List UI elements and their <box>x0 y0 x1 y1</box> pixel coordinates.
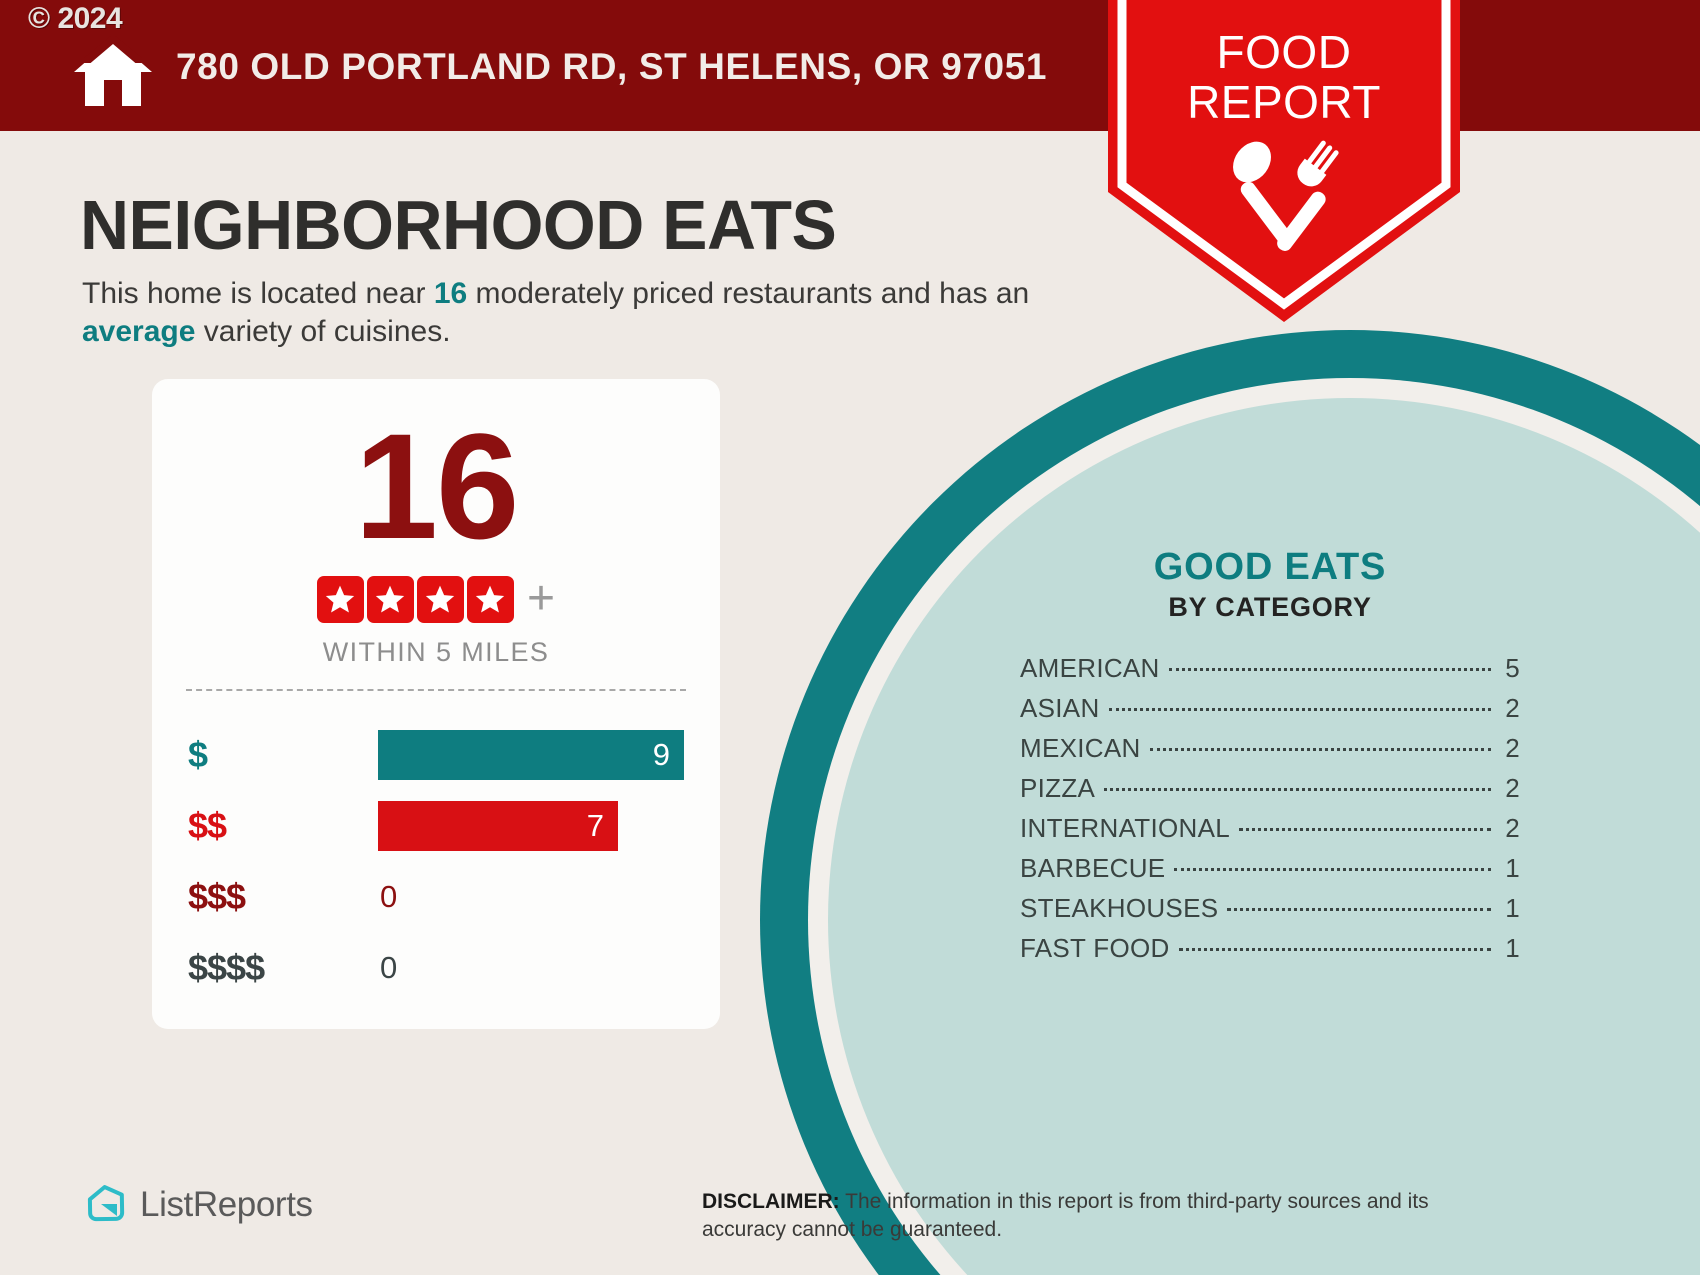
bar-track: 7 <box>378 801 720 851</box>
bar-value: 7 <box>378 801 618 851</box>
category-count: 1 <box>1498 853 1520 884</box>
restaurant-stat-card: 16 + WITHIN 5 MILES $ 9 <box>152 379 720 1029</box>
subtitle-part-3: variety of cuisines. <box>195 315 450 348</box>
category-label: INTERNATIONAL <box>1020 813 1230 844</box>
restaurant-count: 16 <box>152 411 720 561</box>
price-tier-label: $$ <box>188 805 226 847</box>
bar-row: $$$ 0 <box>152 861 720 932</box>
leader-dots <box>1104 788 1491 791</box>
star-rating: + <box>152 575 720 623</box>
plus-icon: + <box>527 575 555 623</box>
category-label: FAST FOOD <box>1020 933 1170 964</box>
bar-track: 9 <box>378 730 720 780</box>
leader-dots <box>1169 668 1491 671</box>
listreports-wordmark: ListReports <box>140 1185 313 1225</box>
category-label: BARBECUE <box>1020 853 1165 884</box>
category-label: ASIAN <box>1020 693 1100 724</box>
category-label: AMERICAN <box>1020 653 1160 684</box>
subtitle-part-2: moderately priced restaurants and has an <box>467 277 1029 310</box>
bar-row: $$$$ 0 <box>152 932 720 1003</box>
leader-dots <box>1179 948 1491 951</box>
star-icon <box>467 576 514 623</box>
disclaimer: DISCLAIMER: The information in this repo… <box>702 1188 1502 1243</box>
listreports-house-tag-icon <box>84 1183 128 1227</box>
price-tier-label: $$$$ <box>188 947 264 989</box>
home-icon <box>72 36 154 108</box>
list-item: AMERICAN 5 <box>1020 653 1520 693</box>
price-tier-label: $ <box>188 734 207 776</box>
good-eats-panel: GOOD EATS BY CATEGORY AMERICAN 5 ASIAN 2… <box>1020 548 1520 973</box>
category-count: 2 <box>1498 773 1520 804</box>
leader-dots <box>1239 828 1491 831</box>
leader-dots <box>1150 748 1491 751</box>
listreports-logo[interactable]: ListReports <box>84 1183 313 1227</box>
star-icon <box>367 576 414 623</box>
subtitle-variety-highlight: average <box>82 315 195 348</box>
subtitle-count-highlight: 16 <box>434 277 467 310</box>
copyright-label: © 2024 <box>28 2 122 36</box>
disclaimer-label: DISCLAIMER: <box>702 1190 840 1213</box>
star-icon <box>317 576 364 623</box>
within-radius-label: WITHIN 5 MILES <box>152 637 720 668</box>
bar-value: 0 <box>378 879 397 915</box>
subtitle-part-1: This home is located near <box>82 277 434 310</box>
leader-dots <box>1227 908 1491 911</box>
category-count: 1 <box>1498 893 1520 924</box>
category-count: 2 <box>1498 813 1520 844</box>
bar-row: $$ 7 <box>152 790 720 861</box>
list-item: INTERNATIONAL 2 <box>1020 813 1520 853</box>
category-label: PIZZA <box>1020 773 1095 804</box>
price-tier-label: $$$ <box>188 876 245 918</box>
list-item: MEXICAN 2 <box>1020 733 1520 773</box>
good-eats-subtitle: BY CATEGORY <box>1020 592 1520 623</box>
star-icon <box>417 576 464 623</box>
food-report-badge: FOOD REPORT <box>1108 0 1460 322</box>
bar-track: 0 <box>378 872 720 922</box>
list-item: BARBECUE 1 <box>1020 853 1520 893</box>
good-eats-title: GOOD EATS <box>1020 548 1520 588</box>
leader-dots <box>1109 708 1491 711</box>
bar-value: 0 <box>378 950 397 986</box>
category-count: 2 <box>1498 733 1520 764</box>
bar-track: 0 <box>378 943 720 993</box>
category-count: 2 <box>1498 693 1520 724</box>
food-report-page: © 2024 780 OLD PORTLAND RD, ST HELENS, O… <box>0 0 1700 1275</box>
category-label: STEAKHOUSES <box>1020 893 1218 924</box>
list-item: STEAKHOUSES 1 <box>1020 893 1520 933</box>
list-item: PIZZA 2 <box>1020 773 1520 813</box>
property-address: 780 OLD PORTLAND RD, ST HELENS, OR 97051 <box>176 46 1047 88</box>
price-tier-bar-chart: $ 9 $$ 7 $$$ 0 $$$$ 0 <box>152 719 720 1003</box>
category-count: 5 <box>1498 653 1520 684</box>
bar-value: 9 <box>378 730 684 780</box>
leader-dots <box>1174 868 1491 871</box>
page-title: NEIGHBORHOOD EATS <box>80 185 836 265</box>
fork-and-spoon-icon <box>1220 138 1348 258</box>
list-item: ASIAN 2 <box>1020 693 1520 733</box>
category-list: AMERICAN 5 ASIAN 2 MEXICAN 2 PIZZA 2 INT… <box>1020 653 1520 973</box>
category-count: 1 <box>1498 933 1520 964</box>
card-divider <box>186 689 686 691</box>
list-item: FAST FOOD 1 <box>1020 933 1520 973</box>
category-label: MEXICAN <box>1020 733 1141 764</box>
bar-row: $ 9 <box>152 719 720 790</box>
